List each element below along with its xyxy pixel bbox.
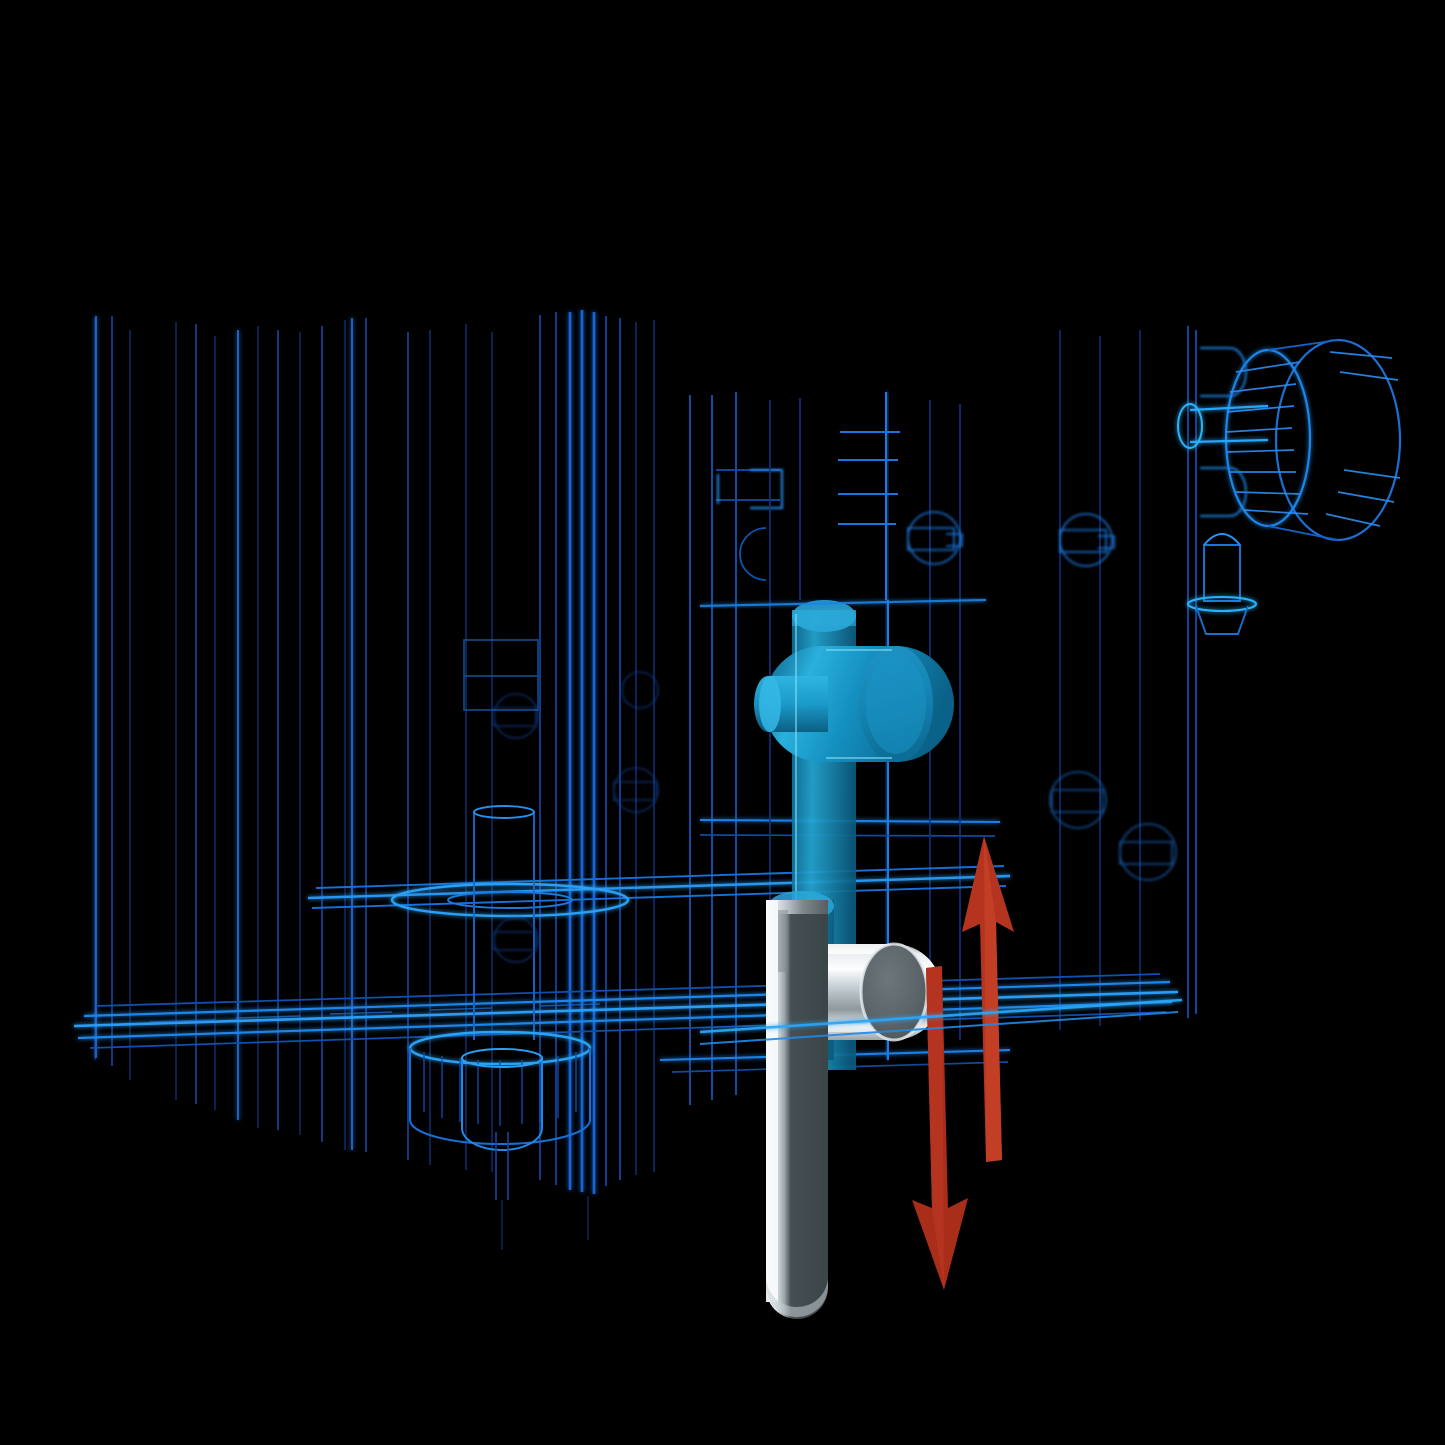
retractable-focus-illustration (0, 0, 1445, 1445)
product-feature-banner: Retractable Focus for Easy Precision (0, 0, 1445, 1445)
silver-slider-arm[interactable] (766, 900, 828, 1319)
background (0, 0, 1445, 1445)
